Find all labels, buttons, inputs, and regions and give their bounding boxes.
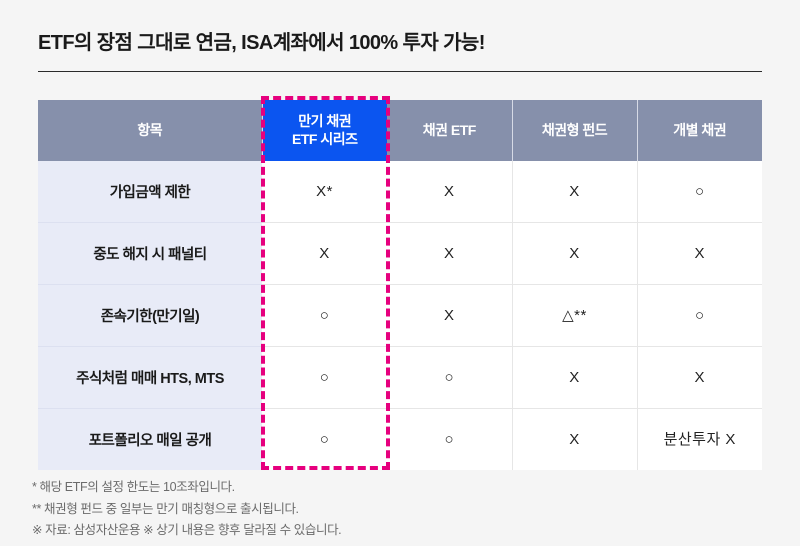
column-header-single-bond: 개별 채권	[637, 100, 762, 161]
mark-glyph: X	[569, 184, 580, 199]
footnotes-section: * 해당 ETF의 설정 한도는 10조좌입니다. ** 채권형 펀드 중 일부…	[32, 477, 762, 542]
mark-glyph: X	[444, 246, 455, 261]
cell-2-1: X	[387, 285, 512, 347]
column-header-bond-fund: 채권형 펀드	[512, 100, 637, 161]
column-header-item: 항목	[38, 100, 262, 161]
title-divider	[38, 71, 762, 72]
row-label-1: 중도 해지 시 패널티	[38, 223, 262, 285]
table-header: 항목 만기 채권 ETF 시리즈 채권 ETF 채권형 펀드 개별 채권	[38, 100, 762, 161]
cell-4-2: X	[512, 409, 637, 471]
mark-superscript: *	[327, 184, 333, 199]
cell-3-0: ○	[262, 347, 387, 409]
comparison-table-container: 항목 만기 채권 ETF 시리즈 채권 ETF 채권형 펀드 개별 채권 가입금…	[38, 100, 762, 470]
row-label-3: 주식처럼 매매 HTS, MTS	[38, 347, 262, 409]
cell-1-2: X	[512, 223, 637, 285]
table-row: 포트폴리오 매일 공개 ○ ○ X 분산투자 X	[38, 409, 762, 471]
cell-1-1: X	[387, 223, 512, 285]
mark-glyph: ○	[444, 370, 454, 385]
mark-glyph: 분산투자 X	[664, 432, 736, 447]
mark-glyph: ○	[695, 308, 705, 323]
title-section: ETF의 장점 그대로 연금, ISA계좌에서 100% 투자 가능!	[38, 30, 762, 72]
page-root: ETF의 장점 그대로 연금, ISA계좌에서 100% 투자 가능! 항목 만…	[0, 0, 800, 546]
cell-1-0: X	[262, 223, 387, 285]
footnote-source: ※ 자료: 삼성자산운용 ※ 상기 내용은 향후 달라질 수 있습니다.	[32, 520, 762, 542]
mark-glyph: ○	[695, 184, 705, 199]
footnote-asterisk: * 해당 ETF의 설정 한도는 10조좌입니다.	[32, 477, 762, 499]
mark-glyph: X	[316, 184, 327, 199]
cell-0-1: X	[387, 161, 512, 223]
row-label-2: 존속기한(만기일)	[38, 285, 262, 347]
column-header-maturity-etf: 만기 채권 ETF 시리즈	[262, 100, 387, 161]
cell-4-3: 분산투자 X	[637, 409, 762, 471]
cell-0-2: X	[512, 161, 637, 223]
table-row: 주식처럼 매매 HTS, MTS ○ ○ X X	[38, 347, 762, 409]
mark-glyph: X	[444, 184, 455, 199]
page-title: ETF의 장점 그대로 연금, ISA계좌에서 100% 투자 가능!	[38, 30, 762, 56]
table-header-row: 항목 만기 채권 ETF 시리즈 채권 ETF 채권형 펀드 개별 채권	[38, 100, 762, 161]
mark-glyph: △	[562, 308, 574, 323]
column-header-bond-etf: 채권 ETF	[387, 100, 512, 161]
comparison-table: 항목 만기 채권 ETF 시리즈 채권 ETF 채권형 펀드 개별 채권 가입금…	[38, 100, 762, 470]
mark-glyph: X	[319, 246, 330, 261]
mark-glyph: X	[694, 370, 705, 385]
mark-glyph: X	[569, 370, 580, 385]
mark-glyph: ○	[444, 432, 454, 447]
cell-2-3: ○	[637, 285, 762, 347]
mark-glyph: ○	[320, 432, 330, 447]
column-header-maturity-etf-line1: 만기 채권	[298, 113, 351, 129]
column-header-maturity-etf-line2: ETF 시리즈	[292, 131, 357, 147]
row-label-0: 가입금액 제한	[38, 161, 262, 223]
mark-superscript: **	[574, 308, 587, 323]
footnote-double-asterisk: ** 채권형 펀드 중 일부는 만기 매칭형으로 출시됩니다.	[32, 499, 762, 521]
table-row: 존속기한(만기일) ○ X △** ○	[38, 285, 762, 347]
mark-glyph: X	[694, 246, 705, 261]
cell-3-3: X	[637, 347, 762, 409]
cell-1-3: X	[637, 223, 762, 285]
cell-0-0: X*	[262, 161, 387, 223]
cell-4-1: ○	[387, 409, 512, 471]
mark-glyph: X	[569, 432, 580, 447]
table-body: 가입금액 제한 X* X X ○ 중도 해지 시 패널티	[38, 161, 762, 470]
cell-0-3: ○	[637, 161, 762, 223]
cell-2-0: ○	[262, 285, 387, 347]
mark-glyph: X	[444, 308, 455, 323]
cell-3-2: X	[512, 347, 637, 409]
mark-glyph: ○	[320, 370, 330, 385]
mark-glyph: X	[569, 246, 580, 261]
row-label-4: 포트폴리오 매일 공개	[38, 409, 262, 471]
cell-4-0: ○	[262, 409, 387, 471]
cell-3-1: ○	[387, 347, 512, 409]
table-row: 가입금액 제한 X* X X ○	[38, 161, 762, 223]
cell-2-2: △**	[512, 285, 637, 347]
table-row: 중도 해지 시 패널티 X X X X	[38, 223, 762, 285]
mark-glyph: ○	[320, 308, 330, 323]
